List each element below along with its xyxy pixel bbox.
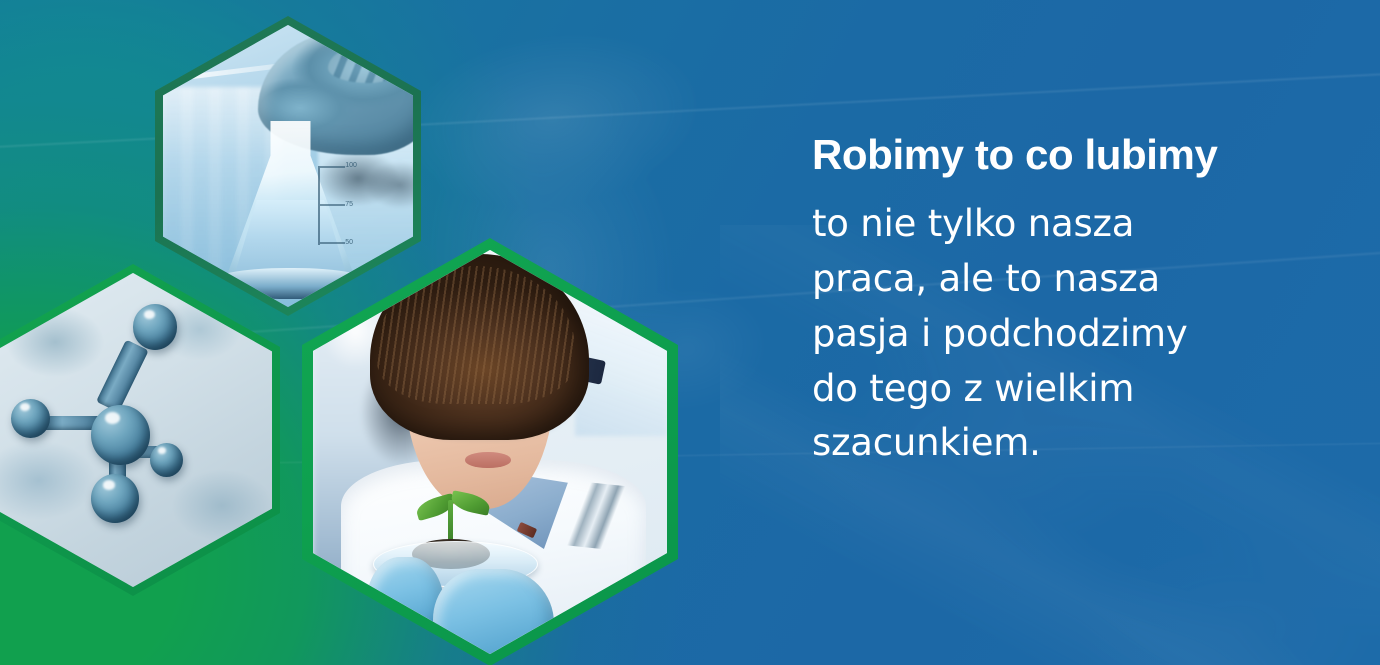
scientist-lips (465, 452, 511, 468)
body-line-5: szacunkiem. (812, 416, 1364, 471)
flask-graduation-scale: 100 75 50 (318, 166, 355, 245)
page-title: Robimy to co lubimy (812, 132, 1364, 177)
flask-scale-label-75: 75 (345, 201, 353, 208)
hero-banner: 100 75 50 (0, 0, 1380, 665)
flask-scale-label-50: 50 (345, 239, 353, 246)
molecule-atom-bottom (91, 474, 138, 523)
molecule-atom-right (150, 443, 183, 478)
molecule-atom-center (91, 405, 149, 465)
banner-copy-block: Robimy to co lubimy to nie tylko nasza p… (812, 132, 1364, 471)
banner-body-text: to nie tylko nasza praca, ale to nasza p… (812, 197, 1364, 471)
molecule-atom-left (11, 399, 50, 438)
body-line-1: to nie tylko nasza (812, 197, 1364, 252)
body-line-2: praca, ale to nasza (812, 252, 1364, 307)
molecule-atom-top (133, 304, 177, 350)
flask-scale-label-100: 100 (345, 162, 357, 169)
body-line-4: do tego z wielkim (812, 362, 1364, 417)
body-line-3: pasja i podchodzimy (812, 307, 1364, 362)
